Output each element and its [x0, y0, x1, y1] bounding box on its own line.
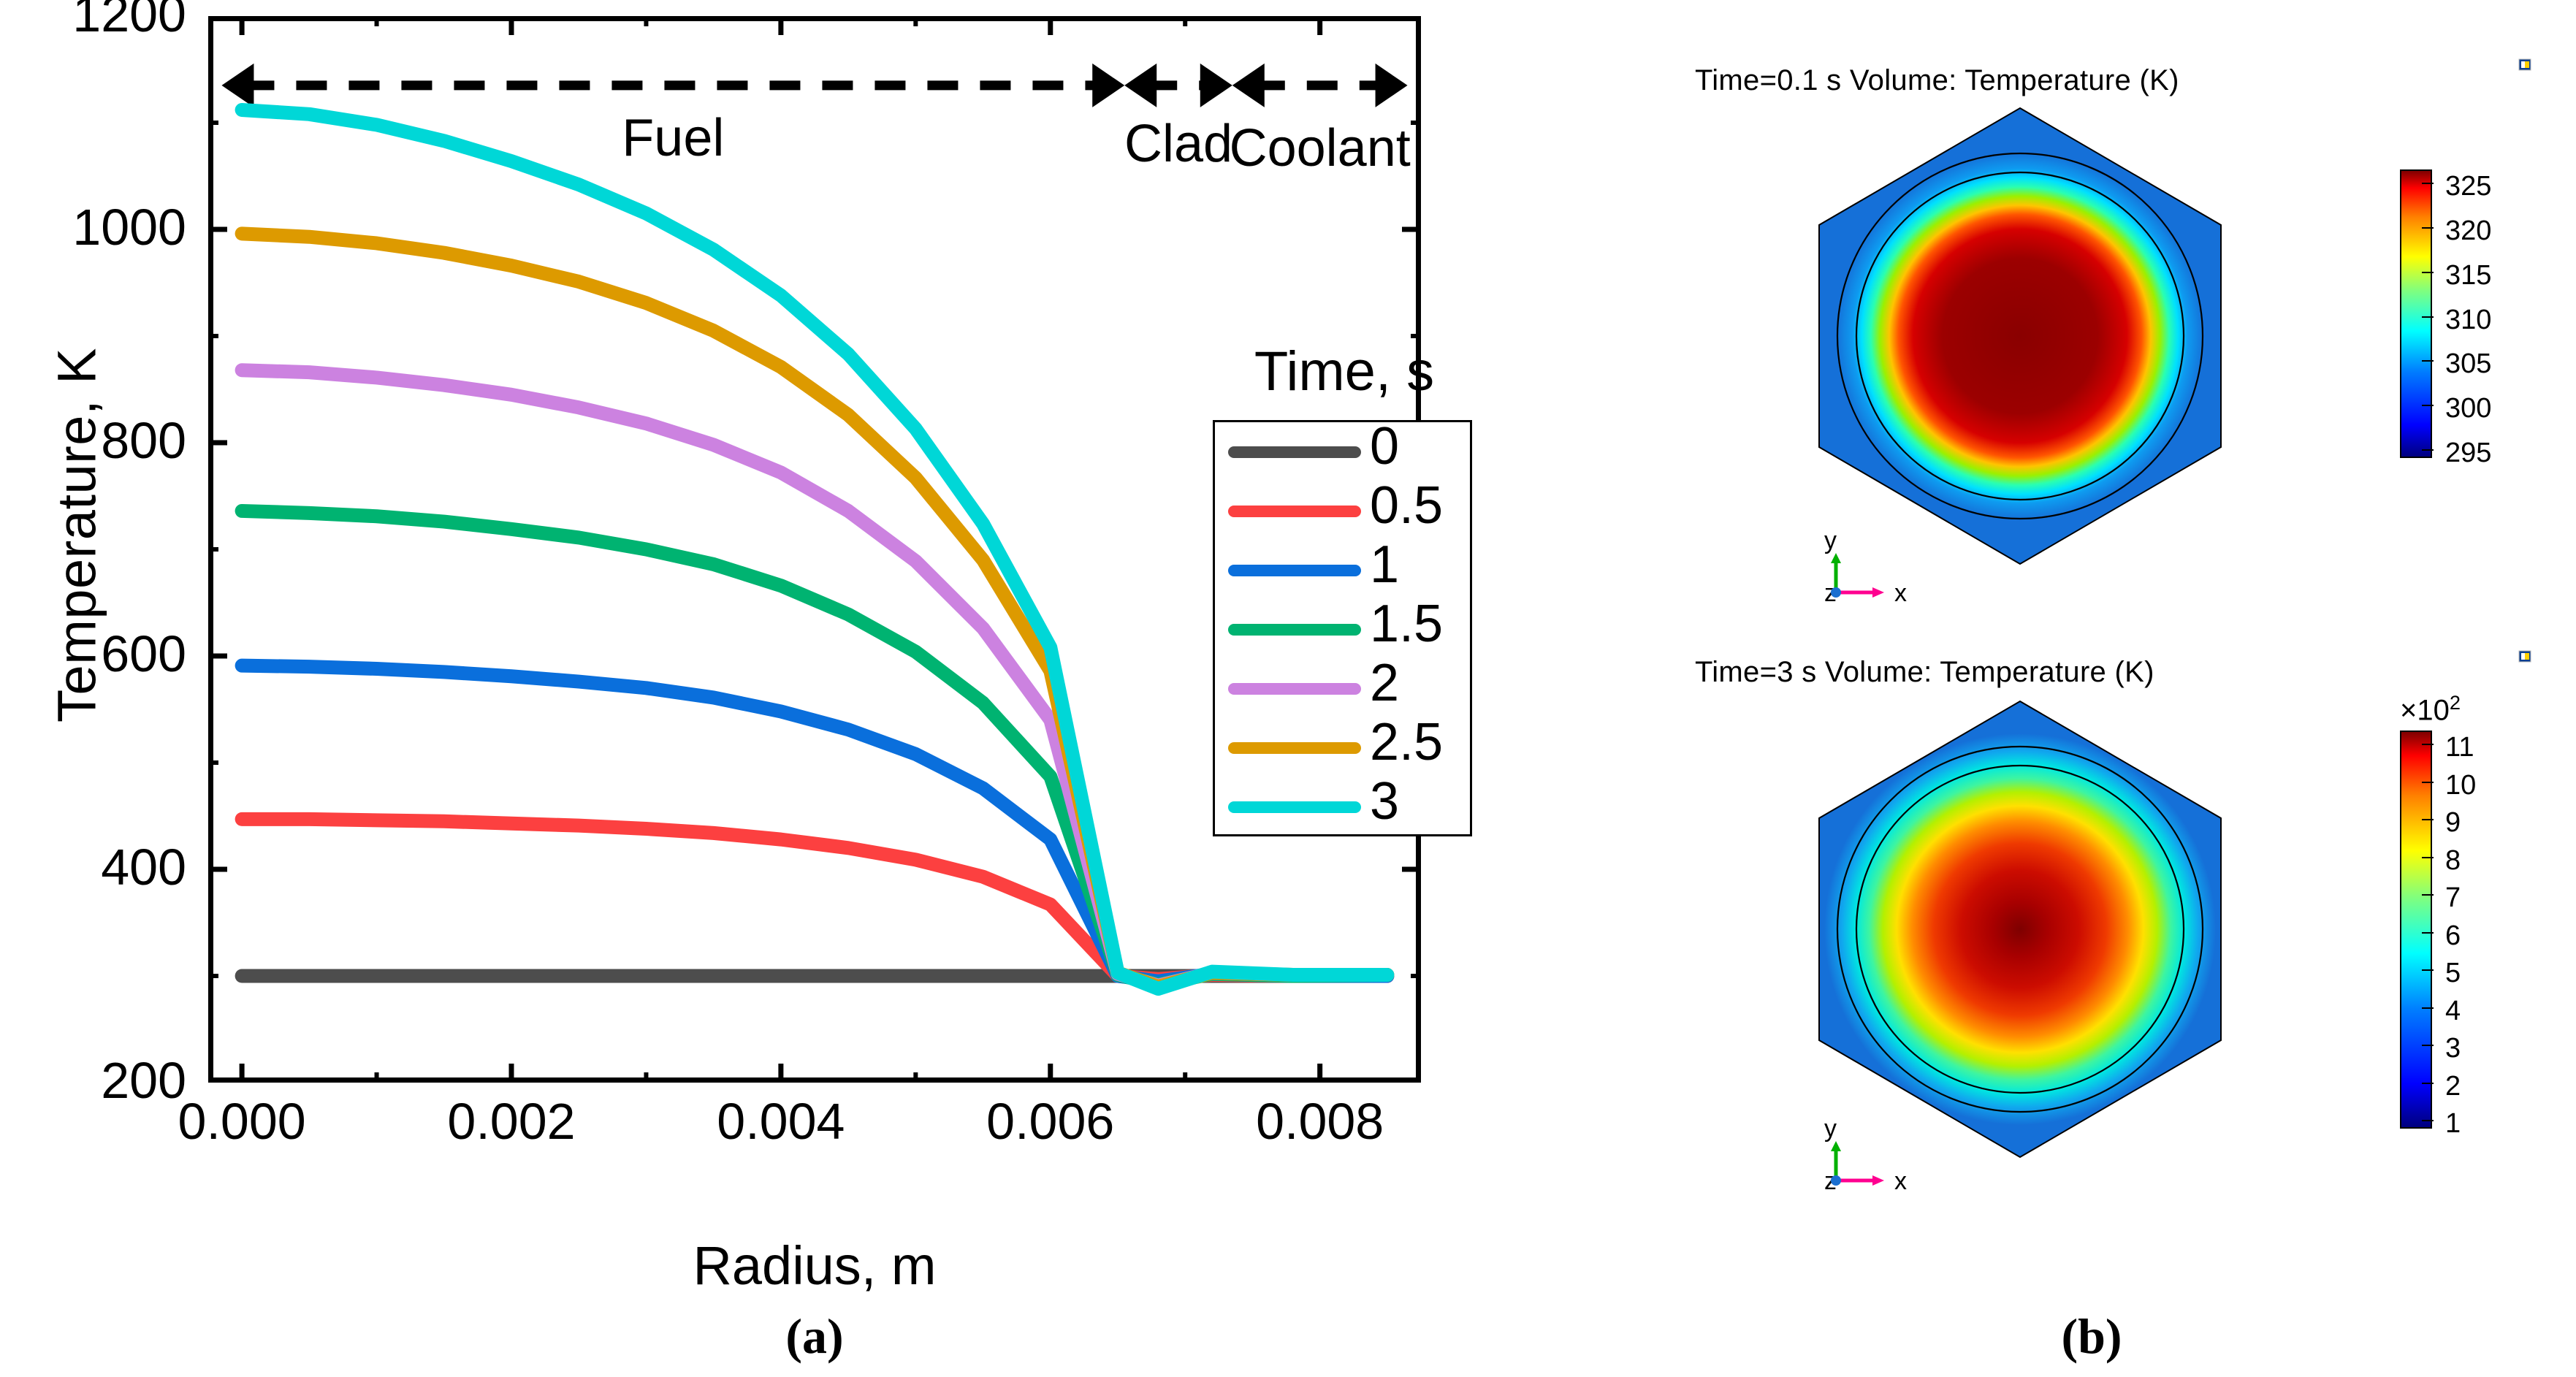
svg-text:x: x	[1894, 579, 1907, 607]
legend-color-swatch	[1228, 742, 1361, 754]
colorbar-tick-mark	[2422, 272, 2434, 273]
panel-a-line-chart: Temperature, K Radius, m (a) 20040060080…	[0, 0, 1607, 1377]
comsol-logo-icon-bottom	[2515, 649, 2534, 665]
colorbar-tick-label: 9	[2445, 809, 2461, 836]
colorbar-tick-mark	[2422, 405, 2434, 406]
x-tick-label: 0.008	[1196, 1096, 1444, 1147]
colorbar-bottom-multiplier: ×102	[2400, 691, 2461, 727]
legend-color-swatch	[1228, 446, 1361, 458]
y-tick-label: 600	[0, 628, 186, 679]
legend-color-swatch	[1228, 624, 1361, 636]
panel-b-cross-sections: Time=0.1 s Volume: Temperature (K)	[1607, 0, 2576, 1377]
colorbar-tick-mark	[2422, 819, 2434, 820]
svg-text:x: x	[1894, 1167, 1907, 1195]
legend-item[interactable]: 2.5	[1215, 718, 1474, 778]
legend-item-label: 2	[1370, 653, 1399, 713]
colorbar-tick-mark	[2422, 1083, 2434, 1084]
colorbar-tick-mark	[2422, 1120, 2434, 1121]
legend-item[interactable]: 1.5	[1215, 600, 1474, 660]
svg-text:y: y	[1824, 1115, 1837, 1143]
colorbar-tick-mark	[2422, 857, 2434, 858]
colorbar-tick-mark	[2422, 782, 2434, 783]
colorbar-tick-label: 6	[2445, 922, 2461, 950]
colorbar-tick-label: 320	[2445, 217, 2491, 245]
legend-color-swatch	[1228, 506, 1361, 517]
colorbar-tick-label: 2	[2445, 1072, 2461, 1100]
x-tick-label: 0.000	[118, 1096, 366, 1147]
x-axis-title: Radius, m	[409, 1235, 1220, 1297]
colorbar-tick-label: 8	[2445, 847, 2461, 874]
legend-item-label: 1	[1370, 535, 1399, 595]
colorbar-tick-label: 7	[2445, 884, 2461, 912]
colorbar-tick-label: 325	[2445, 172, 2491, 200]
colorbar-tick-mark	[2422, 932, 2434, 934]
colorbar-tick-mark	[2422, 1007, 2434, 1009]
panel-b-caption: (b)	[1607, 1308, 2576, 1365]
cross-section-top-title: Time=0.1 s Volume: Temperature (K)	[1695, 64, 2179, 97]
colorbar-tick-mark	[2422, 969, 2434, 971]
legend-color-swatch	[1228, 683, 1361, 695]
legend-item[interactable]: 0	[1215, 422, 1474, 482]
colorbar-tick-mark	[2422, 227, 2434, 229]
legend-item-label: 2.5	[1370, 712, 1443, 772]
colorbar-tick-mark	[2422, 449, 2434, 451]
x-tick-label: 0.002	[387, 1096, 636, 1147]
y-tick-label: 400	[0, 842, 186, 893]
colorbar-tick-label: 1	[2445, 1110, 2461, 1137]
legend-item[interactable]: 1	[1215, 541, 1474, 600]
legend-color-swatch	[1228, 801, 1361, 813]
colorbar-tick-mark	[2422, 894, 2434, 896]
colorbar-tick-label: 310	[2445, 306, 2491, 334]
colorbar-tick-label: 3	[2445, 1034, 2461, 1062]
colorbar-tick-label: 315	[2445, 262, 2491, 289]
colorbar-tick-mark	[2422, 183, 2434, 184]
legend-color-swatch	[1228, 565, 1361, 576]
legend-title: Time, s	[1198, 340, 1490, 403]
colorbar-tick-mark	[2422, 1045, 2434, 1046]
colorbar-tick-mark	[2422, 316, 2434, 318]
legend-item[interactable]: 2	[1215, 659, 1474, 719]
cross-section-top: Time=0.1 s Volume: Temperature (K)	[1607, 0, 2576, 643]
legend-item[interactable]: 0.5	[1215, 481, 1474, 541]
legend-item-label: 0	[1370, 416, 1399, 476]
axis-triad-bottom: y z x	[1808, 1110, 1932, 1198]
legend-item-label: 1.5	[1370, 594, 1443, 654]
y-axis-title: Temperature, K	[46, 207, 108, 864]
colorbar-tick-mark	[2422, 744, 2434, 745]
colorbar-top	[2400, 169, 2432, 458]
colorbar-tick-label: 300	[2445, 394, 2491, 422]
cross-section-bottom: Time=3 s Volume: Temperature (K)	[1607, 643, 2576, 1300]
legend-item-label: 3	[1370, 771, 1399, 831]
colorbar-tick-label: 295	[2445, 439, 2491, 467]
y-tick-label: 1000	[0, 202, 186, 253]
y-tick-label: 1200	[0, 0, 186, 39]
colorbar-tick-label: 11	[2445, 733, 2474, 761]
region-label-coolant: Coolant	[1230, 122, 1411, 175]
y-tick-label: 800	[0, 415, 186, 466]
colorbar-tick-label: 5	[2445, 959, 2461, 987]
colorbar-bottom	[2400, 731, 2432, 1129]
comsol-logo-icon	[2515, 57, 2534, 73]
region-label-clad: Clad	[1124, 118, 1232, 170]
figure-root: Temperature, K Radius, m (a) 20040060080…	[0, 0, 2576, 1377]
legend-item-label: 0.5	[1370, 476, 1443, 535]
colorbar-tick-label: 305	[2445, 350, 2491, 378]
cross-section-bottom-title: Time=3 s Volume: Temperature (K)	[1695, 656, 2154, 689]
axis-triad-top: y z x	[1808, 522, 1932, 610]
x-tick-label: 0.004	[657, 1096, 905, 1147]
x-tick-label: 0.006	[926, 1096, 1175, 1147]
colorbar-tick-mark	[2422, 360, 2434, 362]
panel-a-caption: (a)	[409, 1308, 1220, 1365]
colorbar-tick-label: 10	[2445, 771, 2476, 799]
colorbar-tick-label: 4	[2445, 997, 2461, 1025]
legend-box: 00.511.522.53	[1213, 420, 1472, 836]
svg-text:y: y	[1824, 527, 1837, 554]
legend-item[interactable]: 3	[1215, 777, 1474, 837]
hexagon-heatmap-top	[1794, 102, 2247, 570]
region-label-fuel: Fuel	[622, 112, 724, 164]
hexagon-heatmap-bottom	[1794, 695, 2247, 1163]
